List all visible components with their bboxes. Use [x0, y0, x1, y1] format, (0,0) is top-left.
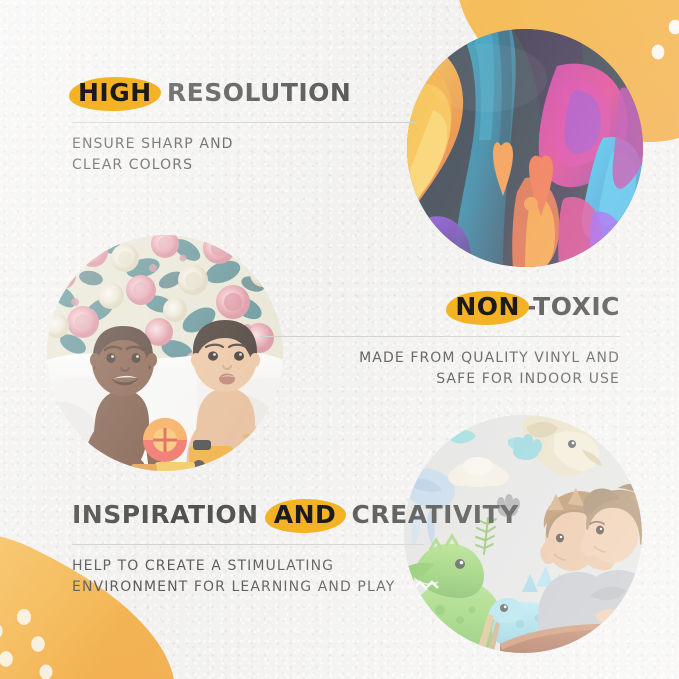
feature-heading-high-resolution: HIGH RESOLUTION — [72, 78, 422, 109]
feature-block-high-resolution: HIGH RESOLUTION ENSURE SHARP AND CLEAR C… — [72, 78, 422, 177]
feature-block-non-toxic: NON-TOXIC MADE FROM QUALITY VINYL AND SA… — [260, 292, 620, 391]
divider-line-high-resolution — [72, 122, 417, 123]
kids-dinosaur-wall-decal-photo — [404, 414, 642, 654]
highlight-word-high: HIGH — [72, 78, 158, 109]
feature-block-inspiration: INSPIRATION AND CREATIVITY HELP TO CREAT… — [72, 500, 432, 599]
divider-line-inspiration — [72, 544, 424, 545]
divider-line-non-toxic — [260, 336, 620, 337]
heading-rest-resolution: RESOLUTION — [167, 78, 351, 107]
feature-body-high-resolution: ENSURE SHARP AND CLEAR COLORS — [72, 134, 422, 177]
feature-heading-inspiration: INSPIRATION AND CREATIVITY — [72, 500, 432, 531]
heading-lead-inspiration: INSPIRATION — [72, 500, 259, 529]
infographic-poster: HIGH RESOLUTION ENSURE SHARP AND CLEAR C… — [0, 0, 679, 679]
highlight-word-non: NON — [449, 292, 526, 323]
feature-heading-non-toxic: NON-TOXIC — [260, 292, 620, 323]
abstract-colorful-swirl-photo — [407, 28, 643, 268]
heading-rest-toxic: -TOXIC — [526, 292, 620, 321]
highlight-word-and: AND — [268, 500, 343, 531]
babies-floral-wallpaper-photo — [47, 234, 284, 472]
feature-body-inspiration: HELP TO CREATE A STIMULATING ENVIRONMENT… — [72, 556, 432, 599]
feature-body-non-toxic: MADE FROM QUALITY VINYL AND SAFE FOR IND… — [260, 348, 620, 391]
heading-rest-creativity: CREATIVITY — [352, 500, 519, 529]
